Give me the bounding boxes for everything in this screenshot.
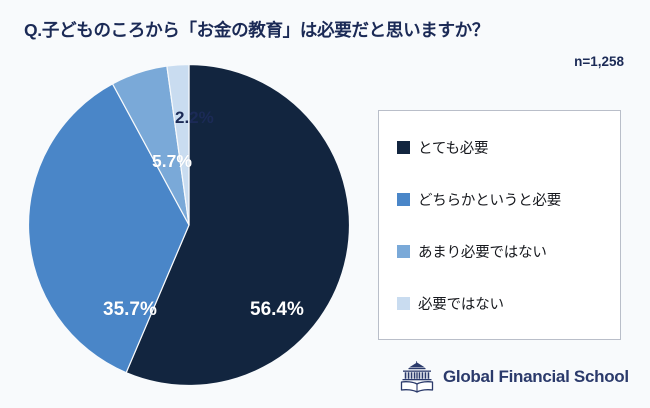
page-title: Q.子どものころから「お金の教育」は必要だと思いますか？ — [24, 17, 489, 42]
legend-item[interactable]: あまり必要ではない — [397, 237, 620, 265]
pie-slice-group — [28, 65, 349, 386]
academy-building-book-icon — [400, 361, 434, 393]
legend-swatch-icon — [397, 141, 410, 154]
legend-item[interactable]: どちらかというと必要 — [397, 185, 620, 213]
legend-item[interactable]: 必要ではない — [397, 289, 620, 317]
brand-logo: Global Financial School — [400, 361, 629, 393]
legend-swatch-icon — [397, 193, 410, 206]
sample-size-label: n=1,258 — [574, 54, 624, 69]
legend-swatch-icon — [397, 245, 410, 258]
legend-list: とても必要どちらかというと必要あまり必要ではない必要ではない — [379, 111, 620, 339]
legend-item-label: 必要ではない — [418, 293, 504, 314]
legend-item[interactable]: とても必要 — [397, 133, 620, 161]
pie-chart-svg — [28, 62, 350, 388]
legend-item-label: とても必要 — [418, 137, 488, 158]
pie-chart: 56.4% 35.7% 5.7% 2.2% — [28, 62, 350, 388]
legend: とても必要どちらかというと必要あまり必要ではない必要ではない — [378, 110, 621, 340]
legend-item-label: どちらかというと必要 — [418, 189, 561, 210]
pie-chart-infographic: Q.子どものころから「お金の教育」は必要だと思いますか？ n=1,258 56.… — [0, 0, 650, 408]
legend-swatch-icon — [397, 297, 410, 310]
legend-item-label: あまり必要ではない — [418, 241, 547, 262]
brand-name: Global Financial School — [443, 367, 629, 387]
